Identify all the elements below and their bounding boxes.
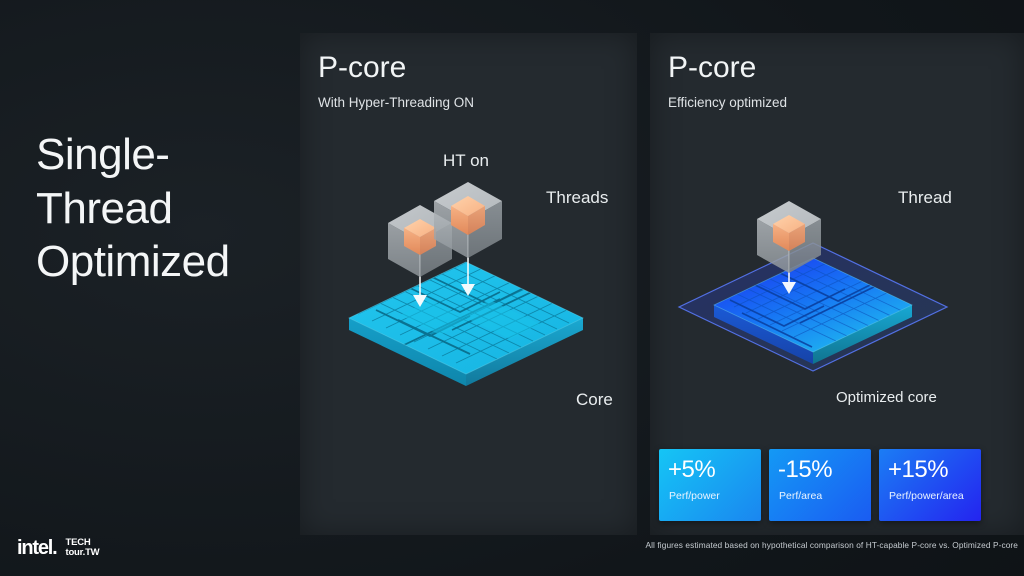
footnote: All figures estimated based on hypotheti…	[645, 540, 1018, 550]
panel-subtitle-right: Efficiency optimized	[668, 95, 787, 110]
stat-card-perf-power-area: +15% Perf/power/area	[879, 449, 981, 521]
intel-logo: intel.	[17, 538, 56, 558]
stat-label: Perf/power	[669, 490, 720, 502]
stat-value: +5%	[668, 456, 715, 484]
stat-card-group: +5% Perf/power -15% Perf/area +15% Perf/…	[659, 449, 981, 521]
stat-value: -15%	[778, 456, 832, 484]
panel-title-right: P-core	[668, 51, 756, 85]
stat-card-perf-area: -15% Perf/area	[769, 449, 871, 521]
label-ht-on: HT on	[443, 151, 489, 171]
tech-tour-logo: TECH tour.TW	[65, 538, 99, 557]
stat-label: Perf/power/area	[889, 490, 964, 502]
panel-title-left: P-core	[318, 51, 406, 85]
panel-subtitle-left: With Hyper-Threading ON	[318, 95, 474, 110]
stat-card-perf-power: +5% Perf/power	[659, 449, 761, 521]
branding-bar: intel. TECH tour.TW	[17, 538, 99, 558]
page-title: Single- Thread Optimized	[36, 128, 296, 289]
stat-value: +15%	[888, 456, 948, 484]
label-core: Core	[576, 390, 613, 410]
label-threads: Threads	[546, 188, 608, 208]
slide-canvas: Single- Thread Optimized P-core With Hyp…	[0, 0, 1024, 576]
tech-tour-line2: tour.TW	[65, 548, 99, 558]
panel-p-core-hyperthreading: P-core With Hyper-Threading ON	[300, 33, 637, 535]
label-thread: Thread	[898, 188, 952, 208]
label-optimized-core: Optimized core	[836, 389, 937, 406]
stat-label: Perf/area	[779, 490, 822, 502]
